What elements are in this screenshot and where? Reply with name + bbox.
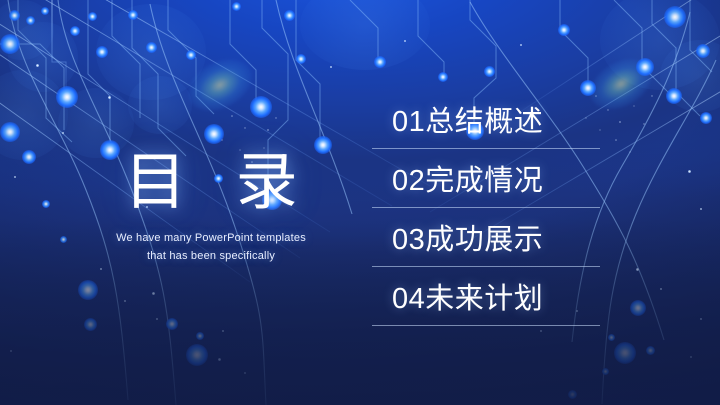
page-subtitle: We have many PowerPoint templates that h… <box>58 229 364 265</box>
agenda-item-02-label: 02完成情况 <box>372 157 543 199</box>
agenda-list: 01总结概述 02完成情况 03成功展示 04未来计划 <box>372 90 600 326</box>
subtitle-line-1: We have many PowerPoint templates <box>58 229 364 247</box>
agenda-item-04-label: 04未来计划 <box>372 275 543 317</box>
agenda-item-01[interactable]: 01总结概述 <box>372 90 600 149</box>
agenda-item-02[interactable]: 02完成情况 <box>372 149 600 208</box>
agenda-item-03[interactable]: 03成功展示 <box>372 208 600 267</box>
subtitle-line-2: that has been specifically <box>58 247 364 265</box>
agenda-item-04[interactable]: 04未来计划 <box>372 267 600 326</box>
agenda-item-03-label: 03成功展示 <box>372 216 543 258</box>
title-block: 目 录 We have many PowerPoint templates th… <box>58 150 364 265</box>
agenda-item-01-label: 01总结概述 <box>372 98 543 140</box>
page-title: 目 录 <box>58 150 364 217</box>
slide-canvas: 目 录 We have many PowerPoint templates th… <box>0 0 720 405</box>
